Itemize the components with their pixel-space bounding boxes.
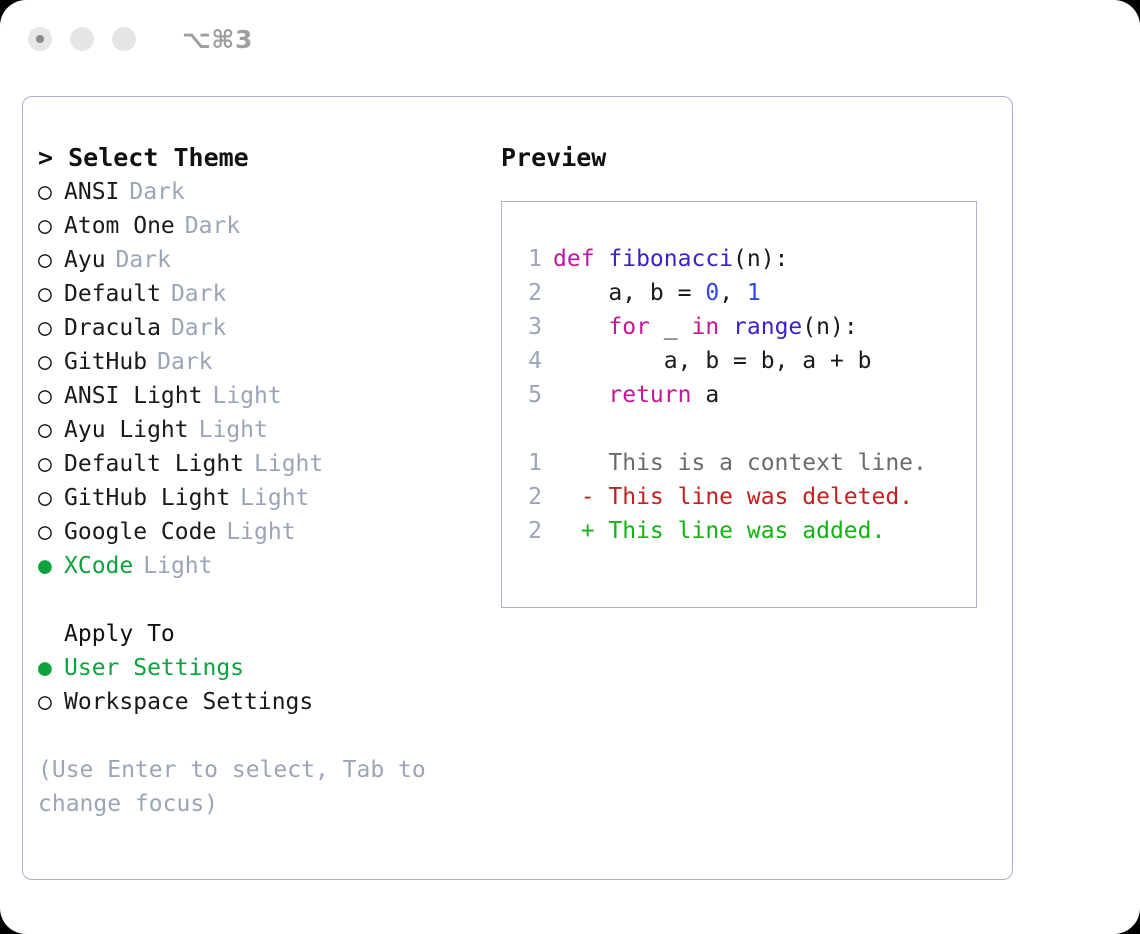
code-token-plain (553, 378, 608, 412)
diff-line-number: 1 (516, 446, 542, 480)
theme-option-variant: Dark (171, 277, 226, 311)
diff-text: This line was added. (595, 514, 886, 548)
theme-option-label: GitHub Light (64, 481, 230, 515)
code-token-plain: (n): (802, 310, 857, 344)
title-bar: ⌥⌘3 (0, 0, 1140, 78)
code-token-plain: (n): (733, 242, 788, 276)
theme-option-ayu-light[interactable]: ○Ayu LightLight (38, 413, 488, 447)
window-dot-icon-2[interactable] (70, 27, 94, 51)
theme-option-variant: Dark (171, 311, 226, 345)
theme-option-variant: Dark (116, 243, 171, 277)
window-dot-active-icon[interactable] (28, 27, 52, 51)
theme-option-label: Default (64, 277, 161, 311)
radio-unselected-icon: ○ (38, 345, 64, 379)
code-line: 1def fibonacci(n): (516, 242, 976, 276)
diff-sample: 1 This is a context line.2 - This line w… (516, 446, 976, 548)
theme-option-github-light[interactable]: ○GitHub LightLight (38, 481, 488, 515)
code-token-plain: a (691, 378, 719, 412)
preview-column: Preview 1def fibonacci(n):2 a, b = 0, 13… (501, 141, 1001, 608)
apply-to-option-workspace-settings[interactable]: ○Workspace Settings (38, 685, 488, 719)
theme-option-label: XCode (64, 549, 133, 583)
radio-selected-icon: ● (38, 549, 64, 583)
theme-option-atom-one[interactable]: ○Atom OneDark (38, 209, 488, 243)
apply-to-option-label: User Settings (64, 651, 244, 685)
diff-marker (553, 446, 595, 480)
window-dot-icon-3[interactable] (112, 27, 136, 51)
code-line: 2 a, b = 0, 1 (516, 276, 976, 310)
theme-option-label: ANSI (64, 175, 119, 209)
diff-line-number: 2 (516, 514, 542, 548)
code-token-plain (553, 310, 608, 344)
theme-option-variant: Light (199, 413, 268, 447)
theme-option-variant: Light (212, 379, 281, 413)
code-token-fn: range (733, 310, 802, 344)
radio-unselected-icon: ○ (38, 277, 64, 311)
code-token-num: 1 (747, 276, 761, 310)
diff-line-number: 2 (516, 480, 542, 514)
diff-line-del: 2 - This line was deleted. (516, 480, 976, 514)
radio-selected-icon: ● (38, 651, 64, 685)
code-line: 5 return a (516, 378, 976, 412)
code-token-kw: for (608, 310, 650, 344)
radio-unselected-icon: ○ (38, 175, 64, 209)
preview-heading: Preview (501, 141, 1001, 175)
diff-text: This is a context line. (595, 446, 927, 480)
keyboard-shortcut-label: ⌥⌘3 (182, 25, 253, 54)
code-token-num: 0 (705, 276, 719, 310)
theme-option-label: Dracula (64, 311, 161, 345)
code-line: 3 for _ in range(n): (516, 310, 976, 344)
theme-option-label: Ayu (64, 243, 106, 277)
theme-option-label: Default Light (64, 447, 244, 481)
theme-option-default-light[interactable]: ○Default LightLight (38, 447, 488, 481)
code-token-plain: a, b = b, a + b (553, 344, 872, 378)
radio-unselected-icon: ○ (38, 447, 64, 481)
code-token-plain: , (719, 276, 747, 310)
theme-picker-column: > Select Theme ○ANSIDark○Atom OneDark○Ay… (38, 141, 488, 821)
code-sample: 1def fibonacci(n):2 a, b = 0, 13 for _ i… (516, 242, 976, 412)
select-theme-heading: > Select Theme (38, 141, 488, 175)
radio-unselected-icon: ○ (38, 413, 64, 447)
code-line-number: 1 (516, 242, 542, 276)
code-token-kw: def (553, 242, 608, 276)
theme-option-default[interactable]: ○DefaultDark (38, 277, 488, 311)
diff-text: This line was deleted. (595, 480, 914, 514)
code-diff-spacer (516, 412, 976, 446)
theme-option-variant: Light (240, 481, 309, 515)
theme-option-xcode[interactable]: ●XCodeLight (38, 549, 488, 583)
theme-option-google-code[interactable]: ○Google CodeLight (38, 515, 488, 549)
theme-option-ayu[interactable]: ○AyuDark (38, 243, 488, 277)
radio-unselected-icon: ○ (38, 379, 64, 413)
theme-option-label: Google Code (64, 515, 216, 549)
main-panel: > Select Theme ○ANSIDark○Atom OneDark○Ay… (22, 96, 1013, 880)
apply-to-option-user-settings[interactable]: ●User Settings (38, 651, 488, 685)
theme-option-github[interactable]: ○GitHubDark (38, 345, 488, 379)
app-window: ⌥⌘3 > Select Theme ○ANSIDark○Atom OneDar… (0, 0, 1140, 934)
window-controls (28, 27, 136, 51)
diff-marker: + (553, 514, 595, 548)
radio-unselected-icon: ○ (38, 685, 64, 719)
code-line-number: 4 (516, 344, 542, 378)
code-token-kw: return (608, 378, 691, 412)
code-line-number: 3 (516, 310, 542, 344)
diff-marker: - (553, 480, 595, 514)
code-token-plain: a, b = (553, 276, 705, 310)
code-token-plain: _ (650, 310, 692, 344)
radio-unselected-icon: ○ (38, 209, 64, 243)
radio-unselected-icon: ○ (38, 311, 64, 345)
apply-to-heading: Apply To (38, 617, 488, 651)
theme-option-variant: Light (254, 447, 323, 481)
theme-option-variant: Dark (129, 175, 184, 209)
diff-line-ctx: 1 This is a context line. (516, 446, 976, 480)
theme-option-variant: Dark (157, 345, 212, 379)
keyboard-hint-text: (Use Enter to select, Tab to change focu… (38, 753, 438, 821)
theme-option-variant: Dark (185, 209, 240, 243)
apply-to-option-label: Workspace Settings (64, 685, 313, 719)
theme-option-label: Atom One (64, 209, 175, 243)
code-line: 4 a, b = b, a + b (516, 344, 976, 378)
theme-list: ○ANSIDark○Atom OneDark○AyuDark○DefaultDa… (38, 175, 488, 583)
code-token-fn: fibonacci (608, 242, 733, 276)
theme-option-variant: Light (143, 549, 212, 583)
theme-option-variant: Light (226, 515, 295, 549)
diff-line-add: 2 + This line was added. (516, 514, 976, 548)
apply-to-list: ●User Settings○Workspace Settings (38, 651, 488, 719)
theme-option-label: GitHub (64, 345, 147, 379)
radio-unselected-icon: ○ (38, 515, 64, 549)
theme-option-label: ANSI Light (64, 379, 202, 413)
theme-option-dracula[interactable]: ○DraculaDark (38, 311, 488, 345)
code-token-plain (719, 310, 733, 344)
theme-option-ansi-light[interactable]: ○ANSI LightLight (38, 379, 488, 413)
radio-unselected-icon: ○ (38, 481, 64, 515)
code-line-number: 2 (516, 276, 542, 310)
preview-box: 1def fibonacci(n):2 a, b = 0, 13 for _ i… (501, 201, 977, 608)
radio-unselected-icon: ○ (38, 243, 64, 277)
theme-option-ansi[interactable]: ○ANSIDark (38, 175, 488, 209)
code-line-number: 5 (516, 378, 542, 412)
section-spacer (38, 583, 488, 617)
theme-option-label: Ayu Light (64, 413, 189, 447)
code-token-kw: in (691, 310, 719, 344)
